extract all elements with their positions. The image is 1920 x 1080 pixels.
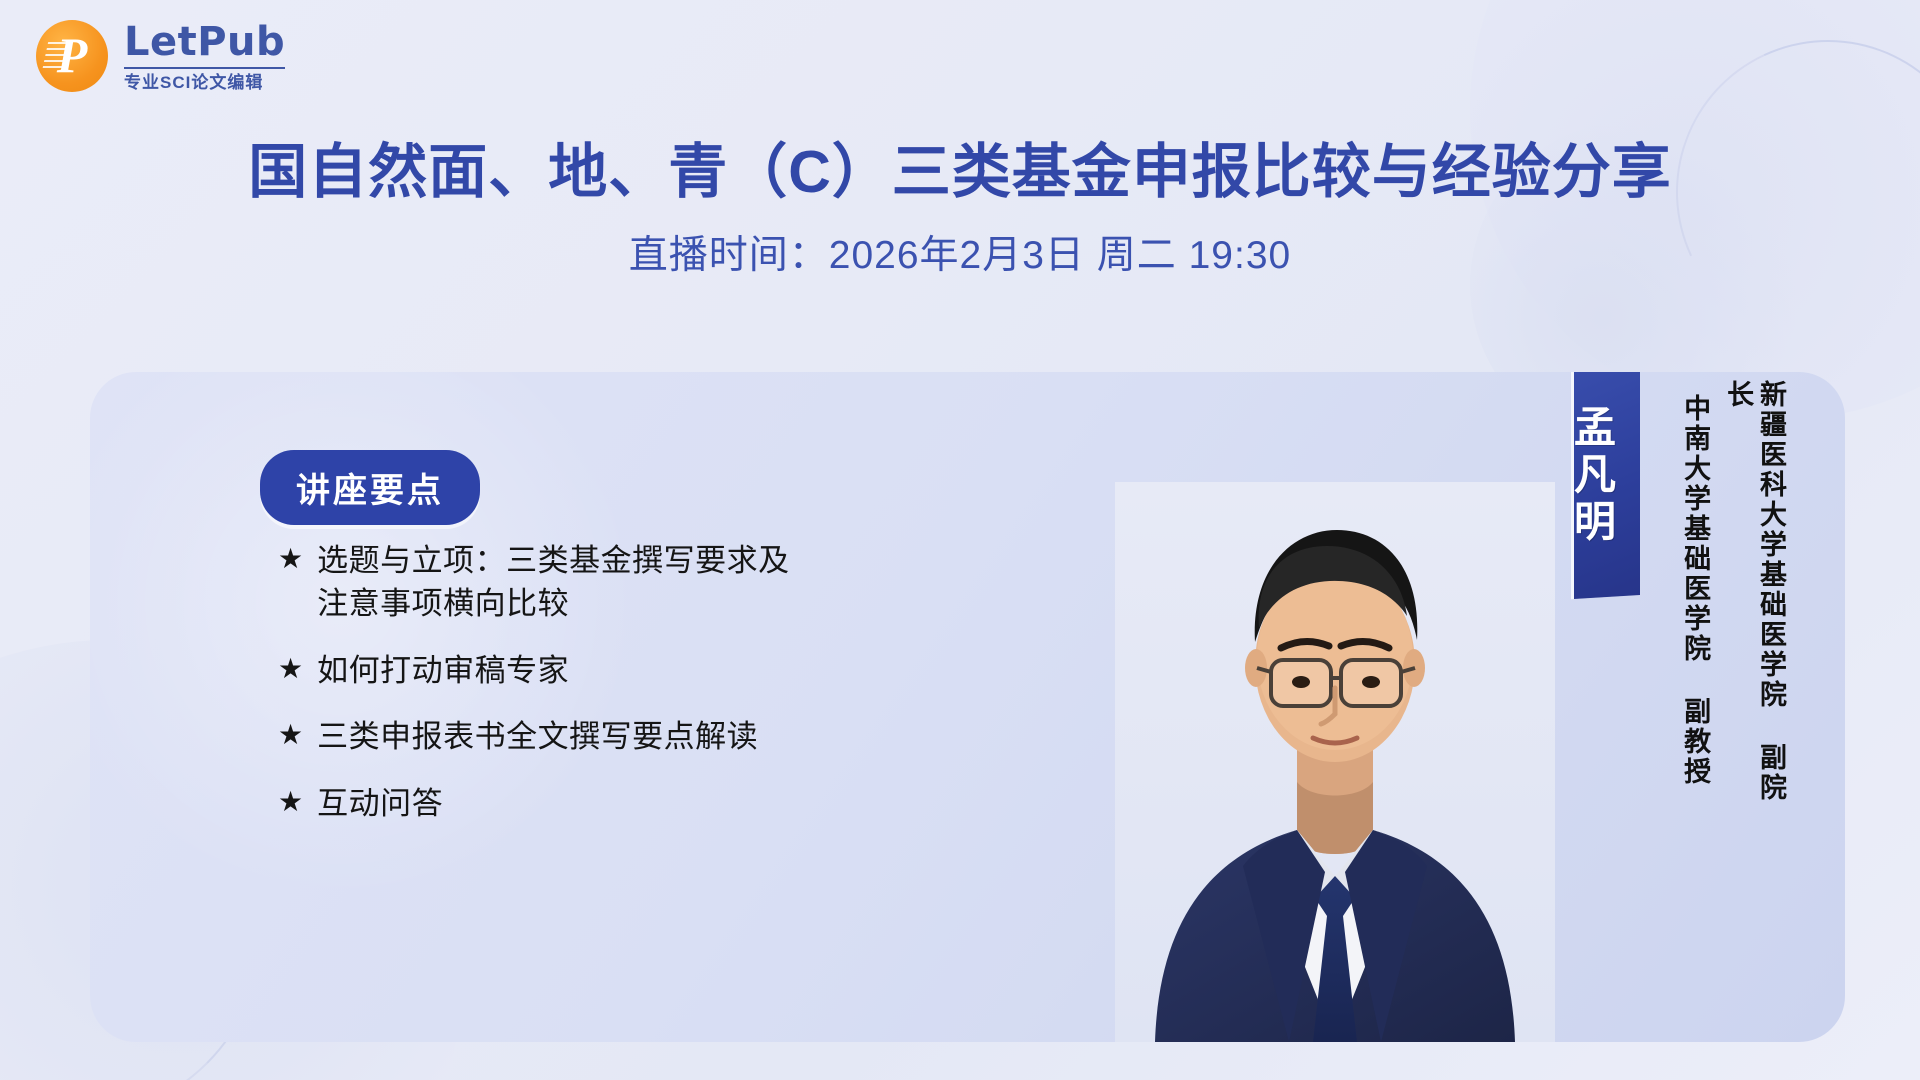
star-icon: ★: [278, 650, 303, 688]
star-icon: ★: [278, 540, 303, 578]
star-icon: ★: [278, 783, 303, 821]
list-item: ★ 互动问答: [278, 783, 978, 826]
list-item-label: 选题与立项：三类基金撰写要求及 注意事项横向比较: [317, 540, 790, 626]
list-item-label: 三类申报表书全文撰写要点解读: [317, 716, 758, 759]
speaker-affiliations: 新疆医科大学基础医学院 副院长 中南大学基础医学院 副教授: [1678, 380, 1787, 810]
page-title: 国自然面、地、青（C）三类基金申报比较与经验分享: [0, 140, 1920, 205]
speaker-nameplate: 孟凡明: [1574, 372, 1640, 599]
list-item: ★ 如何打动审稿专家: [278, 650, 978, 693]
speaker-affiliation-primary: 新疆医科大学基础医学院 副院长: [1721, 380, 1787, 810]
logo-brand-name: LetPub: [124, 22, 285, 62]
logo-letter-p: P: [36, 30, 108, 80]
lecture-points-list: ★ 选题与立项：三类基金撰写要求及 注意事项横向比较 ★ 如何打动审稿专家 ★ …: [278, 540, 978, 850]
logo-tagline: 专业SCI论文编辑: [124, 67, 285, 91]
letpub-logo-mark-icon: P: [36, 20, 108, 92]
lecture-highlights-badge: 讲座要点: [260, 450, 480, 525]
speaker-name: 孟凡明: [1574, 372, 1640, 597]
letpub-logo[interactable]: P LetPub 专业SCI论文编辑: [36, 20, 285, 92]
speaker-affiliation-secondary: 中南大学基础医学院 副教授: [1678, 394, 1711, 794]
list-item-label: 互动问答: [317, 783, 443, 826]
list-item: ★ 三类申报表书全文撰写要点解读: [278, 716, 978, 759]
logo-text-block: LetPub 专业SCI论文编辑: [124, 22, 285, 91]
speaker-photo: [1115, 482, 1555, 1042]
star-icon: ★: [278, 716, 303, 754]
list-item-label: 如何打动审稿专家: [317, 650, 569, 693]
list-item: ★ 选题与立项：三类基金撰写要求及 注意事项横向比较: [278, 540, 978, 626]
broadcast-time: 直播时间：2026年2月3日 周二 19:30: [0, 224, 1920, 280]
seminar-card: 讲座要点 ★ 选题与立项：三类基金撰写要求及 注意事项横向比较 ★ 如何打动审稿…: [90, 372, 1845, 1042]
